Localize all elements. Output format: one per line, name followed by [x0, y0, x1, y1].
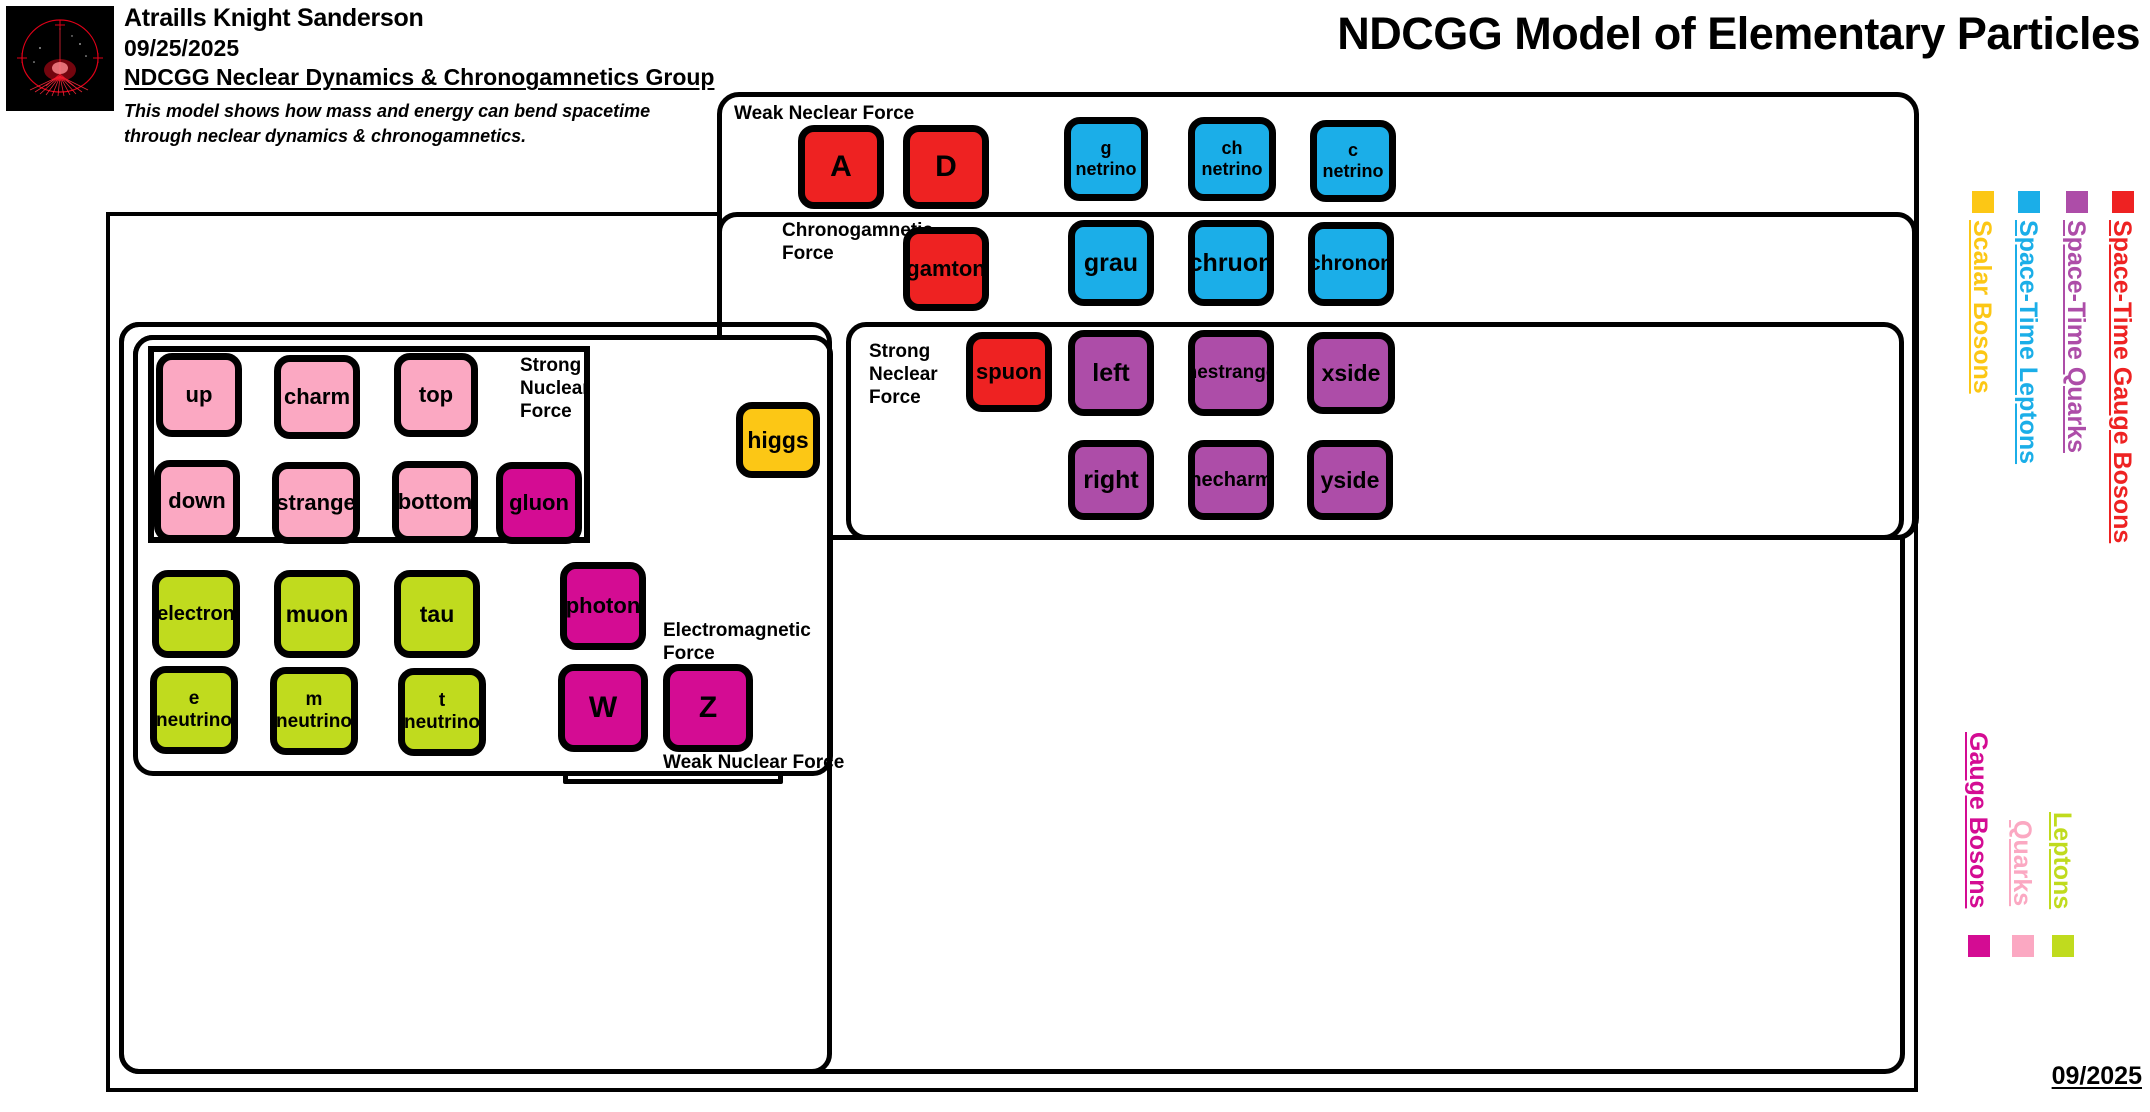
- legend-label-quarks: Quarks: [2007, 820, 2036, 906]
- ndcgg-logo: [6, 6, 114, 111]
- legend-swatch-space-time-quarks: [2066, 191, 2088, 213]
- tile-grau[interactable]: grau: [1068, 220, 1154, 306]
- tile-m-neutrino[interactable]: m neutrino: [270, 667, 358, 755]
- tile-ch-netrino[interactable]: ch netrino: [1188, 117, 1276, 201]
- tile-muon[interactable]: muon: [274, 570, 360, 658]
- tile-gamton[interactable]: gamton: [903, 227, 989, 311]
- legend-label-gauge-bosons: Gauge Bosons: [1963, 732, 1992, 908]
- tile-g-netrino[interactable]: g netrino: [1064, 117, 1148, 201]
- tile-chronon[interactable]: chronon: [1308, 222, 1394, 306]
- legend-swatch-gauge-bosons: [1968, 935, 1990, 957]
- legend-label-leptons: Leptons: [2047, 812, 2076, 909]
- tile-d[interactable]: D: [903, 125, 989, 209]
- tile-necharm[interactable]: necharm: [1188, 440, 1274, 520]
- tile-w[interactable]: W: [558, 664, 648, 752]
- label-weak-nuclear-force-bottom: Weak Nuclear Force: [663, 752, 844, 775]
- page-title: NDCGG Model of Elementary Particles: [1180, 8, 2140, 60]
- tile-spuon[interactable]: spuon: [966, 332, 1052, 412]
- tile-chruon[interactable]: chruon: [1188, 220, 1274, 306]
- tile-c-netrino[interactable]: c netrino: [1310, 120, 1396, 202]
- tile-gluon[interactable]: gluon: [496, 462, 582, 544]
- tile-electron[interactable]: electron: [152, 570, 240, 658]
- label-strong-nuclear-force-left: Strong Nuclear Force: [520, 355, 590, 423]
- tile-right[interactable]: right: [1068, 440, 1154, 520]
- footer-date: 09/2025: [2052, 1062, 2142, 1091]
- legend-swatch-leptons: [2052, 935, 2074, 957]
- tile-down[interactable]: down: [154, 460, 240, 542]
- group-name: NDCGG Neclear Dynamics & Chronogamnetics…: [124, 63, 884, 93]
- tile-up[interactable]: up: [156, 353, 242, 437]
- label-weak-nuclear-force-top: Weak Neclear Force: [734, 103, 914, 126]
- legend-swatch-space-time-leptons: [2018, 191, 2040, 213]
- tile-xside[interactable]: xside: [1307, 332, 1395, 414]
- legend-swatch-space-time-gauge-bosons: [2112, 191, 2134, 213]
- legend-label-space-time-leptons: Space-Time Leptons: [2013, 220, 2042, 464]
- author-name: Atraills Knight Sanderson: [124, 4, 884, 34]
- tile-charm[interactable]: charm: [274, 355, 360, 439]
- tile-e-neutrino[interactable]: e neutrino: [150, 666, 238, 754]
- tile-top[interactable]: top: [394, 353, 478, 437]
- tile-yside[interactable]: yside: [1307, 440, 1393, 520]
- tile-tau[interactable]: tau: [394, 570, 480, 658]
- tile-t-neutrino[interactable]: t neutrino: [398, 668, 486, 756]
- label-electromagnetic-force: Electromagnetic Force: [663, 620, 811, 666]
- tile-higgs[interactable]: higgs: [736, 402, 820, 478]
- legend-label-space-time-gauge-bosons: Space-Time Gauge Bosons: [2107, 220, 2136, 543]
- legend-label-scalar-bosons: Scalar Bosons: [1967, 220, 1996, 394]
- tile-left[interactable]: left: [1068, 330, 1154, 416]
- tile-strange[interactable]: strange: [272, 462, 360, 544]
- tile-nestrange[interactable]: nestrange: [1188, 330, 1274, 416]
- label-strong-neclear-force-right: Strong Neclear Force: [869, 341, 938, 409]
- tile-a[interactable]: A: [798, 125, 884, 209]
- tile-z[interactable]: Z: [663, 664, 753, 752]
- tile-bottom[interactable]: bottom: [392, 461, 478, 543]
- header-date: 09/25/2025: [124, 34, 884, 64]
- tile-photon[interactable]: photon: [560, 562, 646, 650]
- legend-label-space-time-quarks: Space-Time Quarks: [2061, 220, 2090, 453]
- legend-swatch-scalar-bosons: [1972, 191, 1994, 213]
- legend-swatch-quarks: [2012, 935, 2034, 957]
